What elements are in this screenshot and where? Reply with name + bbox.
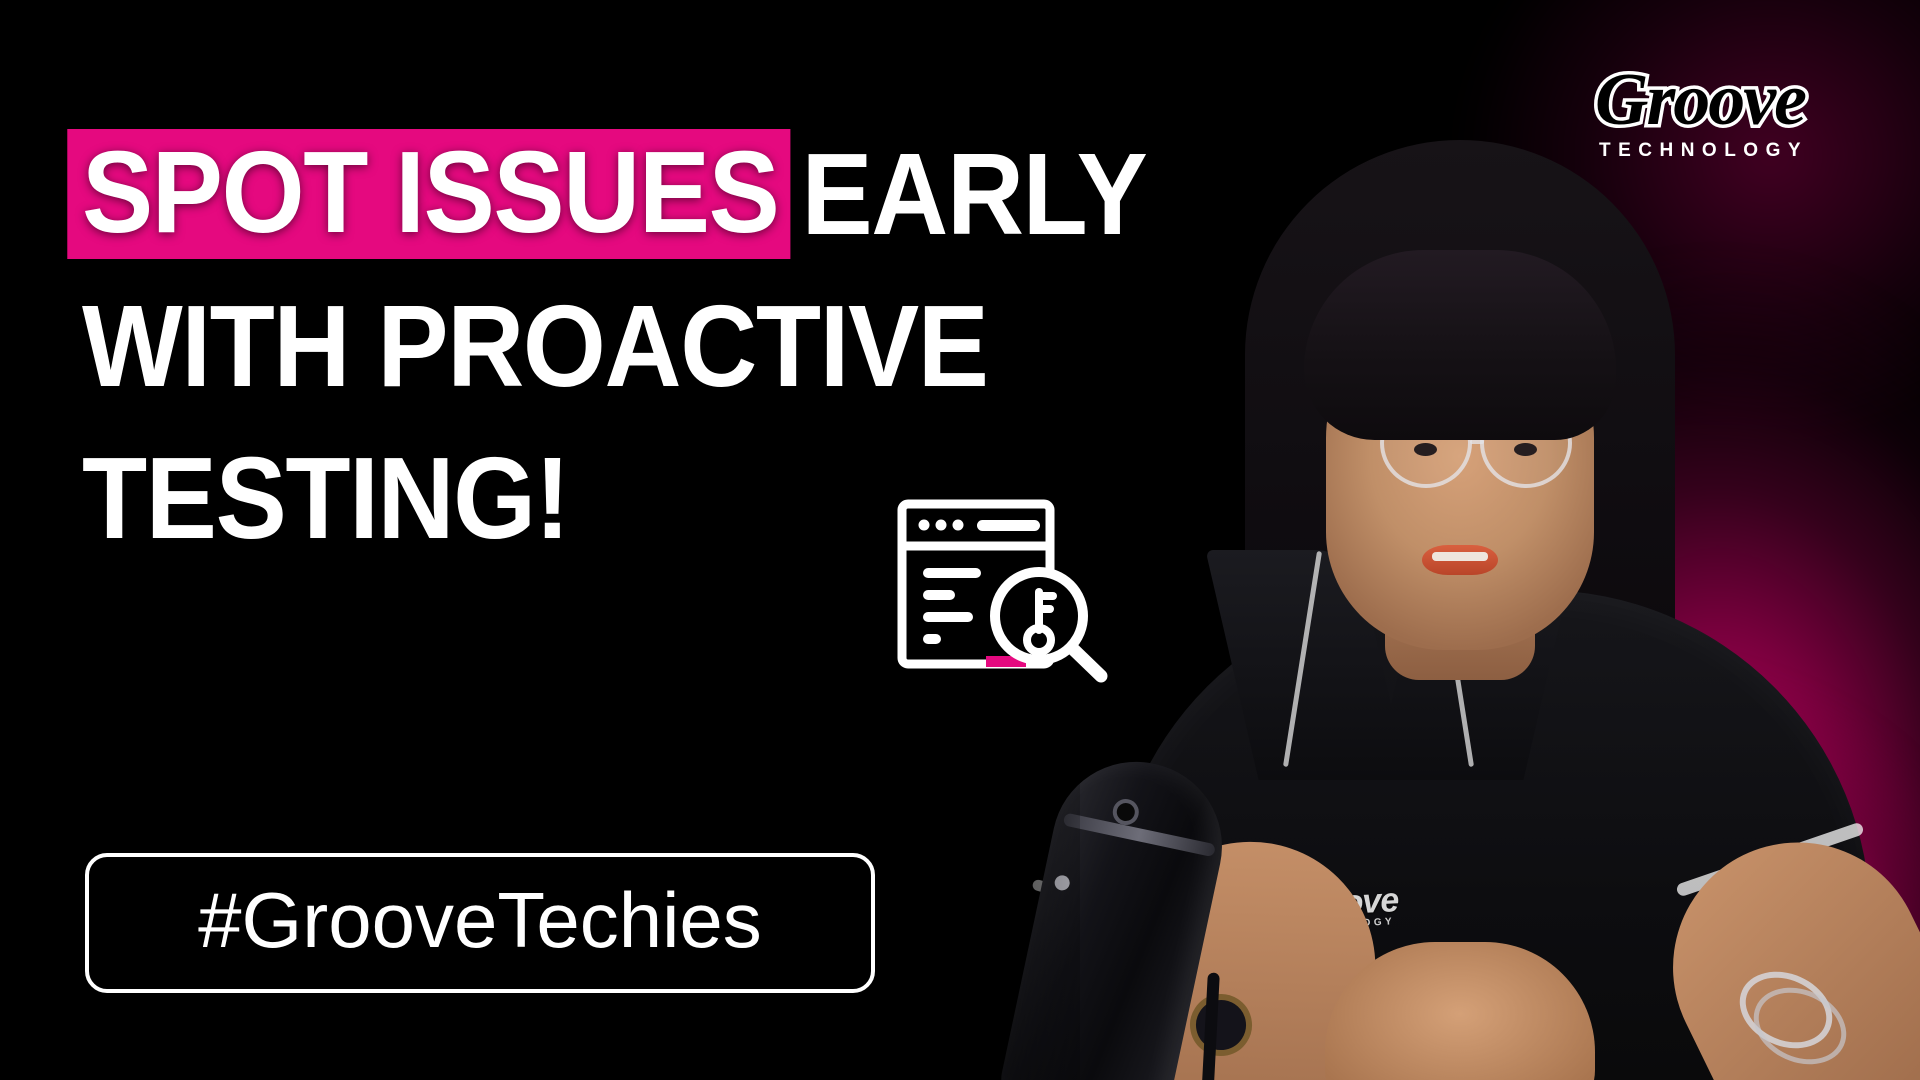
- hashtag-label: #GrooveTechies: [198, 881, 762, 959]
- brand-logo-word: Groove: [1550, 64, 1850, 136]
- headline-line-2: WITH PROACTIVE: [82, 270, 1388, 422]
- headline-block: SPOT ISSUES EARLY WITH PROACTIVE TESTING…: [82, 118, 1502, 574]
- headline-line-3: TESTING!: [82, 422, 1388, 574]
- video-thumbnail-stage: Groove TECHNOLOGY SPOT ISSUES EARLY WITH…: [0, 0, 1920, 1080]
- brand-logo: Groove TECHNOLOGY: [1550, 64, 1850, 162]
- headline-line-1-rest: EARLY: [790, 118, 1146, 270]
- headline-highlight: SPOT ISSUES: [67, 129, 790, 259]
- headline-line-1: SPOT ISSUES EARLY: [82, 118, 1388, 270]
- hashtag-badge[interactable]: #GrooveTechies: [85, 853, 875, 993]
- brand-logo-subtitle: TECHNOLOGY: [1550, 140, 1850, 162]
